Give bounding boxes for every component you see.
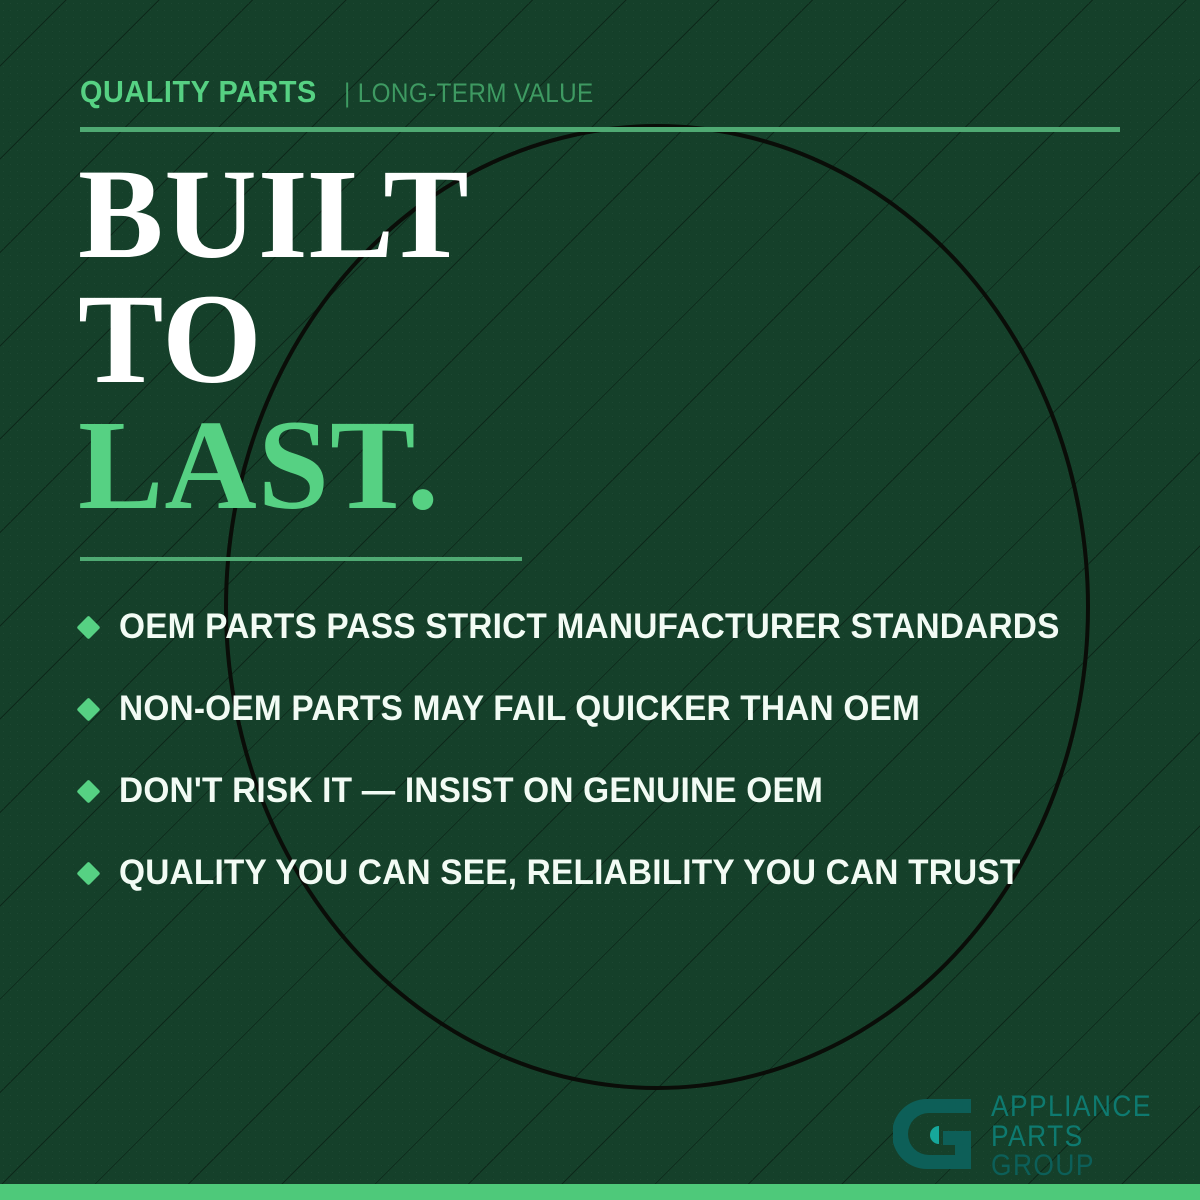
logo-line-2: PARTS	[991, 1122, 1152, 1152]
diamond-bullet-icon	[76, 861, 100, 885]
poster-canvas: QUALITY PARTS | LONG-TERM VALUE BUILT TO…	[0, 0, 1200, 1200]
list-item-label: DON'T RISK IT — INSIST ON GENUINE OEM	[119, 771, 823, 811]
list-item: OEM PARTS PASS STRICT MANUFACTURER STAND…	[80, 586, 1150, 668]
list-item-label: OEM PARTS PASS STRICT MANUFACTURER STAND…	[119, 607, 1060, 647]
eyebrow: QUALITY PARTS | LONG-TERM VALUE	[80, 74, 621, 110]
headline-line-2: TO	[78, 277, 470, 402]
list-item-label: QUALITY YOU CAN SEE, RELIABILITY YOU CAN…	[119, 853, 1020, 893]
brand-logo: APPLIANCE PARTS GROUP	[893, 1091, 1174, 1182]
header-divider-rule	[80, 127, 1120, 132]
headline-line-1: BUILT	[78, 152, 470, 277]
bottom-accent-bar	[0, 1184, 1200, 1200]
list-item: NON-OEM PARTS MAY FAIL QUICKER THAN OEM	[80, 668, 1150, 750]
g-monogram-icon	[893, 1091, 979, 1182]
list-item: QUALITY YOU CAN SEE, RELIABILITY YOU CAN…	[80, 832, 1150, 914]
diamond-bullet-icon	[76, 615, 100, 639]
diamond-bullet-icon	[76, 779, 100, 803]
list-item-label: NON-OEM PARTS MAY FAIL QUICKER THAN OEM	[119, 689, 920, 729]
benefit-list: OEM PARTS PASS STRICT MANUFACTURER STAND…	[80, 586, 1150, 914]
logo-line-1: APPLIANCE	[991, 1092, 1152, 1122]
eyebrow-sub-label: | LONG-TERM VALUE	[344, 78, 594, 109]
headline: BUILT TO LAST.	[78, 152, 470, 528]
headline-line-3-accent: LAST.	[78, 403, 470, 528]
brand-logo-wordmark: APPLIANCE PARTS GROUP	[991, 1092, 1174, 1181]
headline-divider-rule	[80, 557, 522, 561]
diamond-bullet-icon	[76, 697, 100, 721]
eyebrow-main-label: QUALITY PARTS	[80, 74, 317, 110]
logo-line-3: GROUP	[991, 1151, 1152, 1181]
list-item: DON'T RISK IT — INSIST ON GENUINE OEM	[80, 750, 1150, 832]
